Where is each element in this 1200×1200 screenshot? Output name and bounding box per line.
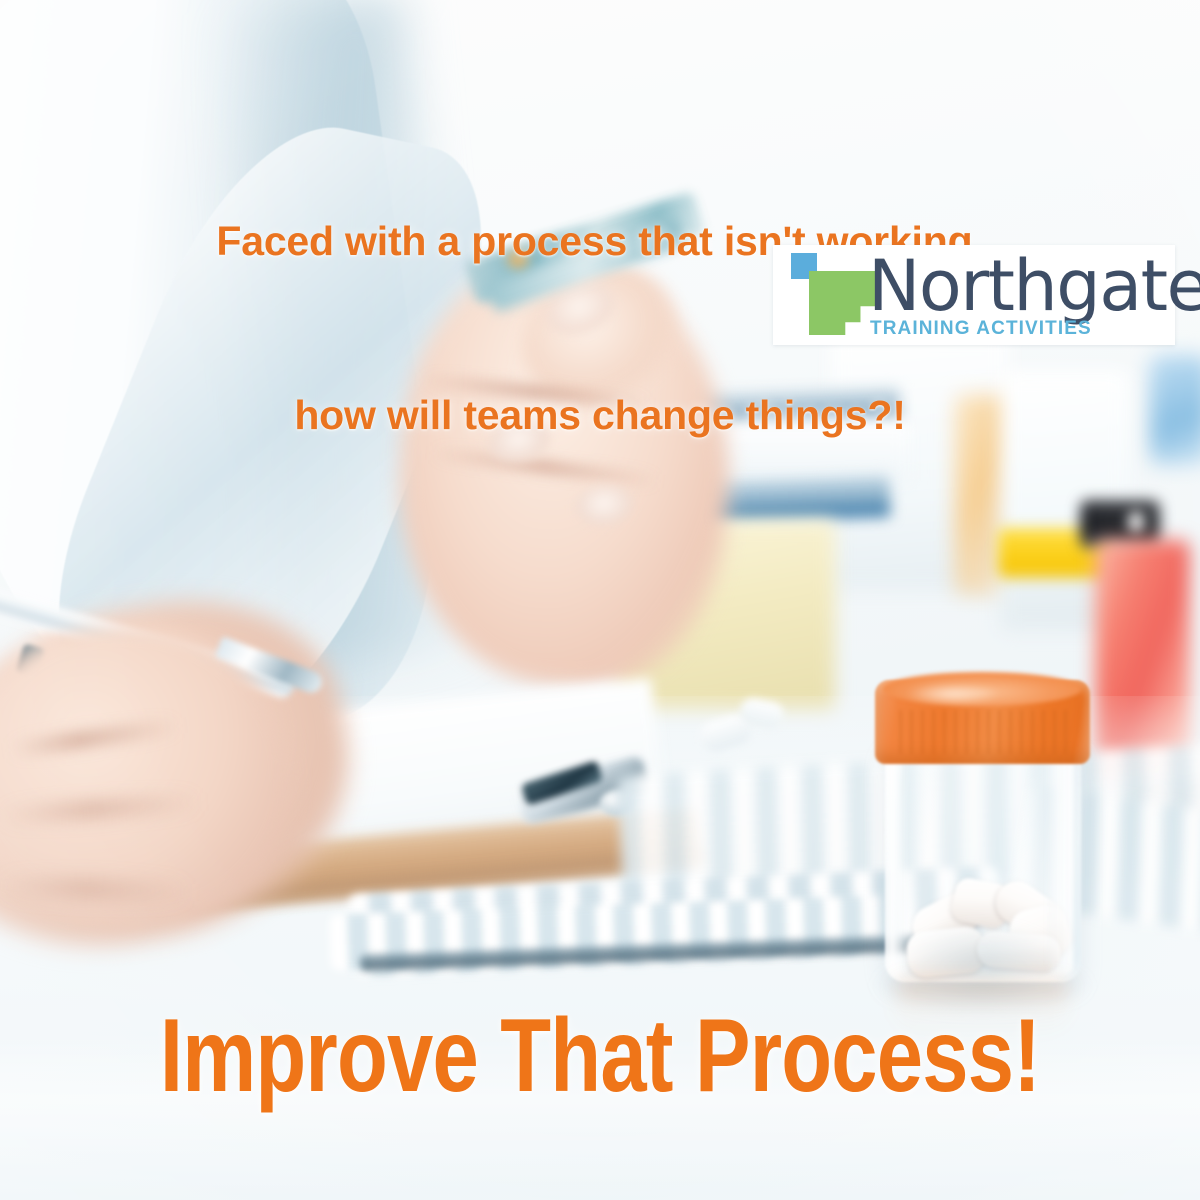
northgate-logo[interactable]: Northgate TRAINING ACTIVITIES [773,245,1175,345]
pill-jar-highlight-right [1047,746,1073,976]
pill-jar-highlight-left [889,746,909,976]
northgate-logo-mark-icon [791,253,877,335]
bottom-title: Improve That Process! [120,1004,1080,1108]
pill-jar-cap-highlight [905,684,1001,704]
pill-jar-inner-shadow [901,922,1065,974]
pill-jar-cap-ridges [899,710,1067,754]
poster-canvas: Faced with a process that isn't working,… [0,0,1200,1200]
logo-green-shape-icon [809,271,875,335]
pill-jar [875,672,1090,992]
logo-tagline: TRAINING ACTIVITIES [870,318,1092,340]
headline-line-2: how will teams change things?! [0,386,1200,444]
logo-wordmark: Northgate [868,247,1200,325]
